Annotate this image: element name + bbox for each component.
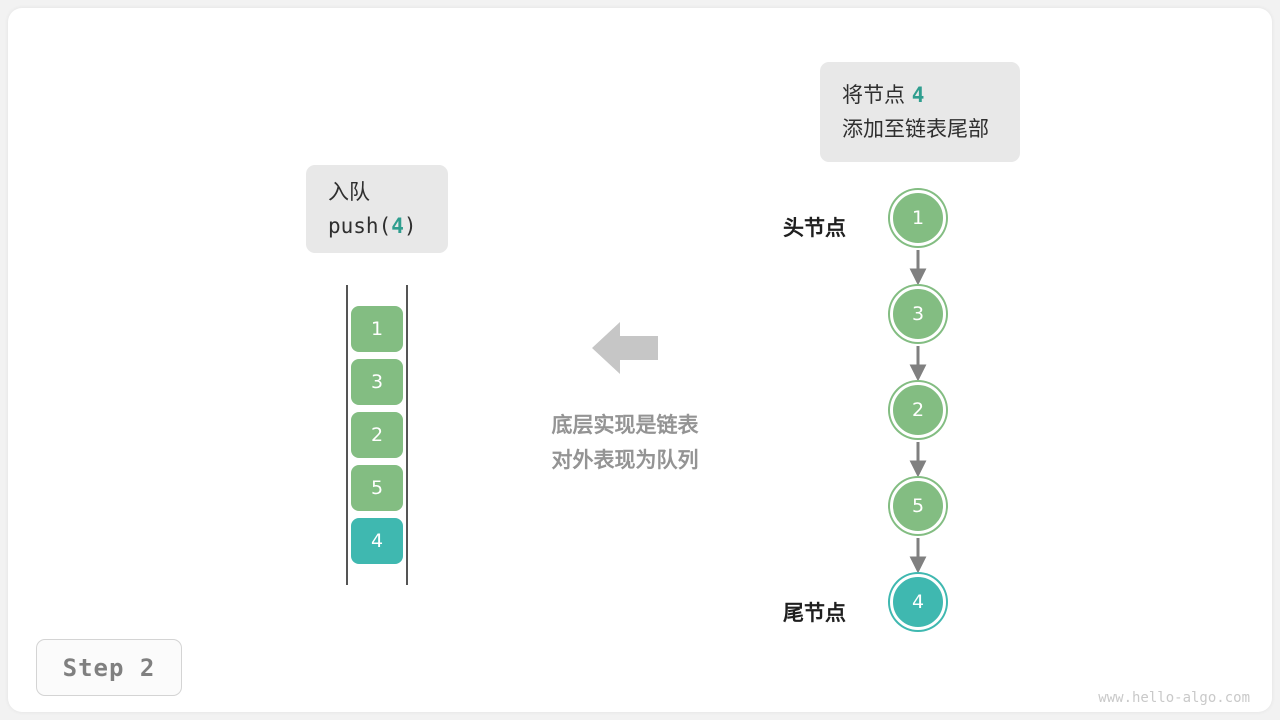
head-node-label: 头节点 [783, 212, 846, 242]
queue-item: 5 [351, 465, 403, 511]
caption-line1: 底层实现是链表 [505, 408, 745, 443]
step-badge: Step 2 [36, 639, 182, 696]
left-arrow-icon [592, 318, 658, 378]
tail-node-label: 尾节点 [783, 597, 846, 627]
watermark: www.hello-algo.com [1098, 690, 1250, 706]
diagram-canvas: 入队 push(4) 将节点 4 添加至链表尾部 1 3 2 5 4 底层实现是… [0, 0, 1280, 720]
queue-rail-left [346, 285, 348, 585]
list-node: 5 [890, 478, 946, 534]
queue-item: 1 [351, 306, 403, 352]
queue-item: 2 [351, 412, 403, 458]
append-label-line1: 将节点 4 [842, 78, 998, 112]
push-label-suffix: ) [404, 214, 417, 238]
append-operation-label: 将节点 4 添加至链表尾部 [820, 62, 1020, 162]
queue-column: 1 3 2 5 4 [346, 285, 408, 585]
push-label-prefix: push( [328, 214, 391, 238]
append-label-value: 4 [912, 83, 925, 107]
push-operation-label: 入队 push(4) [306, 165, 448, 253]
list-node: 1 [890, 190, 946, 246]
caption-line2: 对外表现为队列 [505, 443, 745, 478]
linked-list: 1 3 2 5 4 [860, 190, 980, 650]
append-label-line2: 添加至链表尾部 [842, 112, 998, 146]
push-label-line2: push(4) [328, 209, 426, 243]
push-label-value: 4 [391, 214, 404, 238]
queue-item: 3 [351, 359, 403, 405]
list-node: 4 [890, 574, 946, 630]
list-node: 3 [890, 286, 946, 342]
center-caption: 底层实现是链表 对外表现为队列 [505, 408, 745, 478]
queue-rail-right [406, 285, 408, 585]
list-node: 2 [890, 382, 946, 438]
queue-item: 4 [351, 518, 403, 564]
append-label-prefix: 将节点 [842, 83, 912, 107]
push-label-line1: 入队 [328, 175, 426, 209]
